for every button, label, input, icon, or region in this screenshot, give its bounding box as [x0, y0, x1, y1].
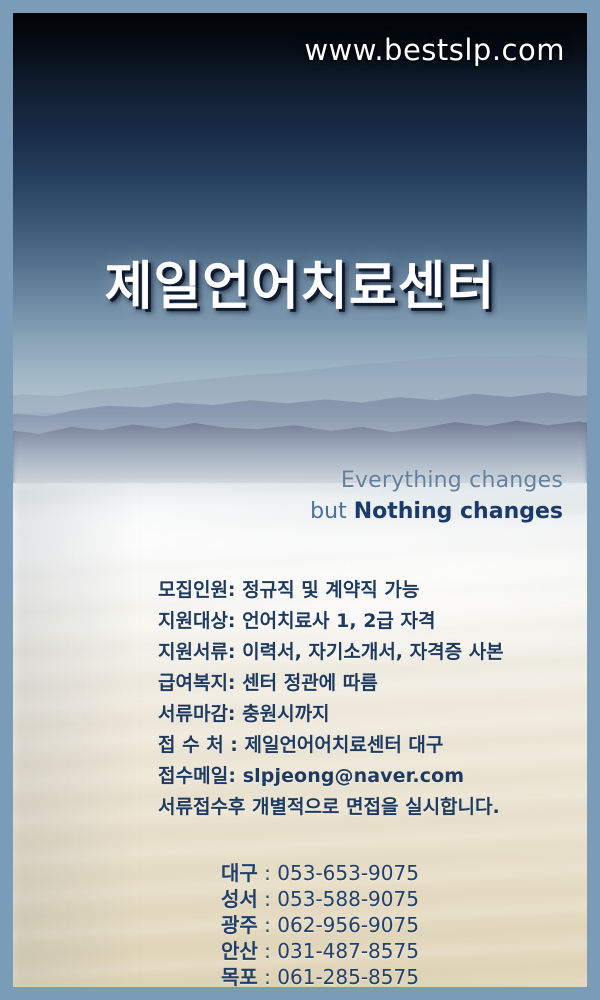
- phone-sep-seongseo: :: [258, 887, 277, 911]
- recruitment-poster: www.bestslp.com 제일언어치료센터 Everything chan…: [0, 0, 600, 1000]
- detail-row-notice: 서류접수후 개별적으로 면접을 실시합니다.: [158, 792, 504, 823]
- tagline-nothing: Nothing changes: [354, 499, 563, 524]
- phone-number-daegu: 053-653-9075: [277, 861, 419, 885]
- detail-row-documents: 지원서류: 이력서, 자기소개서, 자격증 사본: [158, 637, 504, 668]
- detail-row-salary: 급여복지: 센터 정관에 따름: [158, 668, 504, 699]
- tagline: Everything changes but Nothing changes: [310, 468, 563, 525]
- phone-label-seongseo: 성서: [221, 887, 258, 911]
- phone-sep-mokpo: :: [258, 965, 277, 987]
- detail-row-headcount: 모집인원: 정규직 및 계약직 가능: [158, 575, 504, 606]
- phone-list: 대구 : 053-653-9075 성서 : 053-588-9075 광주 :…: [221, 860, 419, 987]
- phone-label-daegu: 대구: [221, 861, 258, 885]
- landscape-photo: www.bestslp.com 제일언어치료센터 Everything chan…: [13, 13, 587, 987]
- phone-label-gwangju: 광주: [221, 913, 258, 937]
- phone-row-daegu[interactable]: 대구 : 053-653-9075: [221, 860, 419, 886]
- phone-label-ansan: 안산: [221, 939, 258, 963]
- phone-number-ansan: 031-487-8575: [277, 939, 419, 963]
- phone-row-mokpo[interactable]: 목포 : 061-285-8575: [221, 964, 419, 987]
- phone-sep-daegu: :: [258, 861, 277, 885]
- phone-number-mokpo: 061-285-8575: [277, 965, 419, 987]
- tagline-line-1: Everything changes: [310, 468, 563, 494]
- website-url[interactable]: www.bestslp.com: [304, 33, 565, 67]
- tagline-line-2: but Nothing changes: [310, 499, 563, 525]
- detail-row-deadline: 서류마감: 충원시까지: [158, 699, 504, 730]
- phone-label-mokpo: 목포: [221, 965, 258, 987]
- job-details-list: 모집인원: 정규직 및 계약직 가능 지원대상: 언어치료사 1, 2급 자격 …: [158, 575, 504, 823]
- phone-sep-ansan: :: [258, 939, 277, 963]
- phone-row-ansan[interactable]: 안산 : 031-487-8575: [221, 938, 419, 964]
- tagline-but: but: [310, 499, 354, 524]
- detail-row-eligibility: 지원대상: 언어치료사 1, 2급 자격: [158, 606, 504, 637]
- detail-row-email[interactable]: 접수메일: slpjeong@naver.com: [158, 761, 504, 792]
- phone-number-seongseo: 053-588-9075: [277, 887, 419, 911]
- page-title: 제일언어치료센터: [13, 244, 587, 319]
- phone-row-seongseo[interactable]: 성서 : 053-588-9075: [221, 886, 419, 912]
- detail-row-location: 접 수 처 : 제일언어어치료센터 대구: [158, 730, 504, 761]
- phone-number-gwangju: 062-956-9075: [277, 913, 419, 937]
- phone-sep-gwangju: :: [258, 913, 277, 937]
- phone-row-gwangju[interactable]: 광주 : 062-956-9075: [221, 912, 419, 938]
- sky-gradient: [13, 13, 587, 413]
